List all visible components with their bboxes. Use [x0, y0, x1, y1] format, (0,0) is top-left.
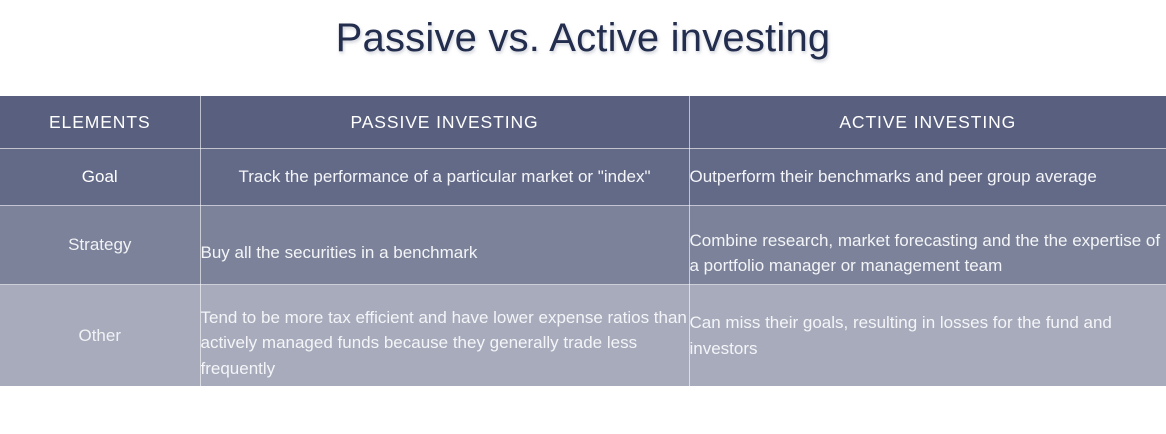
table-row: Goal Track the performance of a particul… — [0, 149, 1166, 206]
cell-text: Tend to be more tax efficient and have l… — [201, 290, 689, 382]
cell-text: Other — [0, 326, 200, 346]
cell-strategy-active: Combine research, market forecasting and… — [689, 206, 1166, 285]
cell-text: Outperform their benchmarks and peer gro… — [690, 164, 1166, 190]
table-row: Other Tend to be more tax efficient and … — [0, 285, 1166, 387]
comparison-table-container: ELEMENTS PASSIVE INVESTING ACTIVE INVEST… — [0, 96, 1166, 384]
row-label-strategy: Strategy — [0, 206, 200, 285]
cell-other-passive: Tend to be more tax efficient and have l… — [200, 285, 689, 387]
cell-text: Goal — [0, 167, 200, 187]
cell-text: Buy all the securities in a benchmark — [201, 224, 689, 266]
table-body: Goal Track the performance of a particul… — [0, 149, 1166, 387]
table-header-row: ELEMENTS PASSIVE INVESTING ACTIVE INVEST… — [0, 96, 1166, 149]
cell-text: Track the performance of a particular ma… — [201, 164, 689, 190]
cell-strategy-passive: Buy all the securities in a benchmark — [200, 206, 689, 285]
row-label-other: Other — [0, 285, 200, 387]
row-label-goal: Goal — [0, 149, 200, 206]
cell-text: Can miss their goals, resulting in losse… — [690, 310, 1166, 361]
cell-text: Strategy — [0, 235, 200, 255]
comparison-table: ELEMENTS PASSIVE INVESTING ACTIVE INVEST… — [0, 96, 1166, 386]
column-header-elements: ELEMENTS — [0, 96, 200, 149]
slide: Passive vs. Active investing ELEMENTS PA… — [0, 0, 1166, 434]
page-title: Passive vs. Active investing — [0, 18, 1166, 58]
cell-goal-active: Outperform their benchmarks and peer gro… — [689, 149, 1166, 206]
column-header-passive-investing: PASSIVE INVESTING — [200, 96, 689, 149]
cell-text: Combine research, market forecasting and… — [690, 212, 1166, 279]
cell-other-active: Can miss their goals, resulting in losse… — [689, 285, 1166, 387]
column-header-active-investing: ACTIVE INVESTING — [689, 96, 1166, 149]
table-header: ELEMENTS PASSIVE INVESTING ACTIVE INVEST… — [0, 96, 1166, 149]
cell-goal-passive: Track the performance of a particular ma… — [200, 149, 689, 206]
table-row: Strategy Buy all the securities in a ben… — [0, 206, 1166, 285]
